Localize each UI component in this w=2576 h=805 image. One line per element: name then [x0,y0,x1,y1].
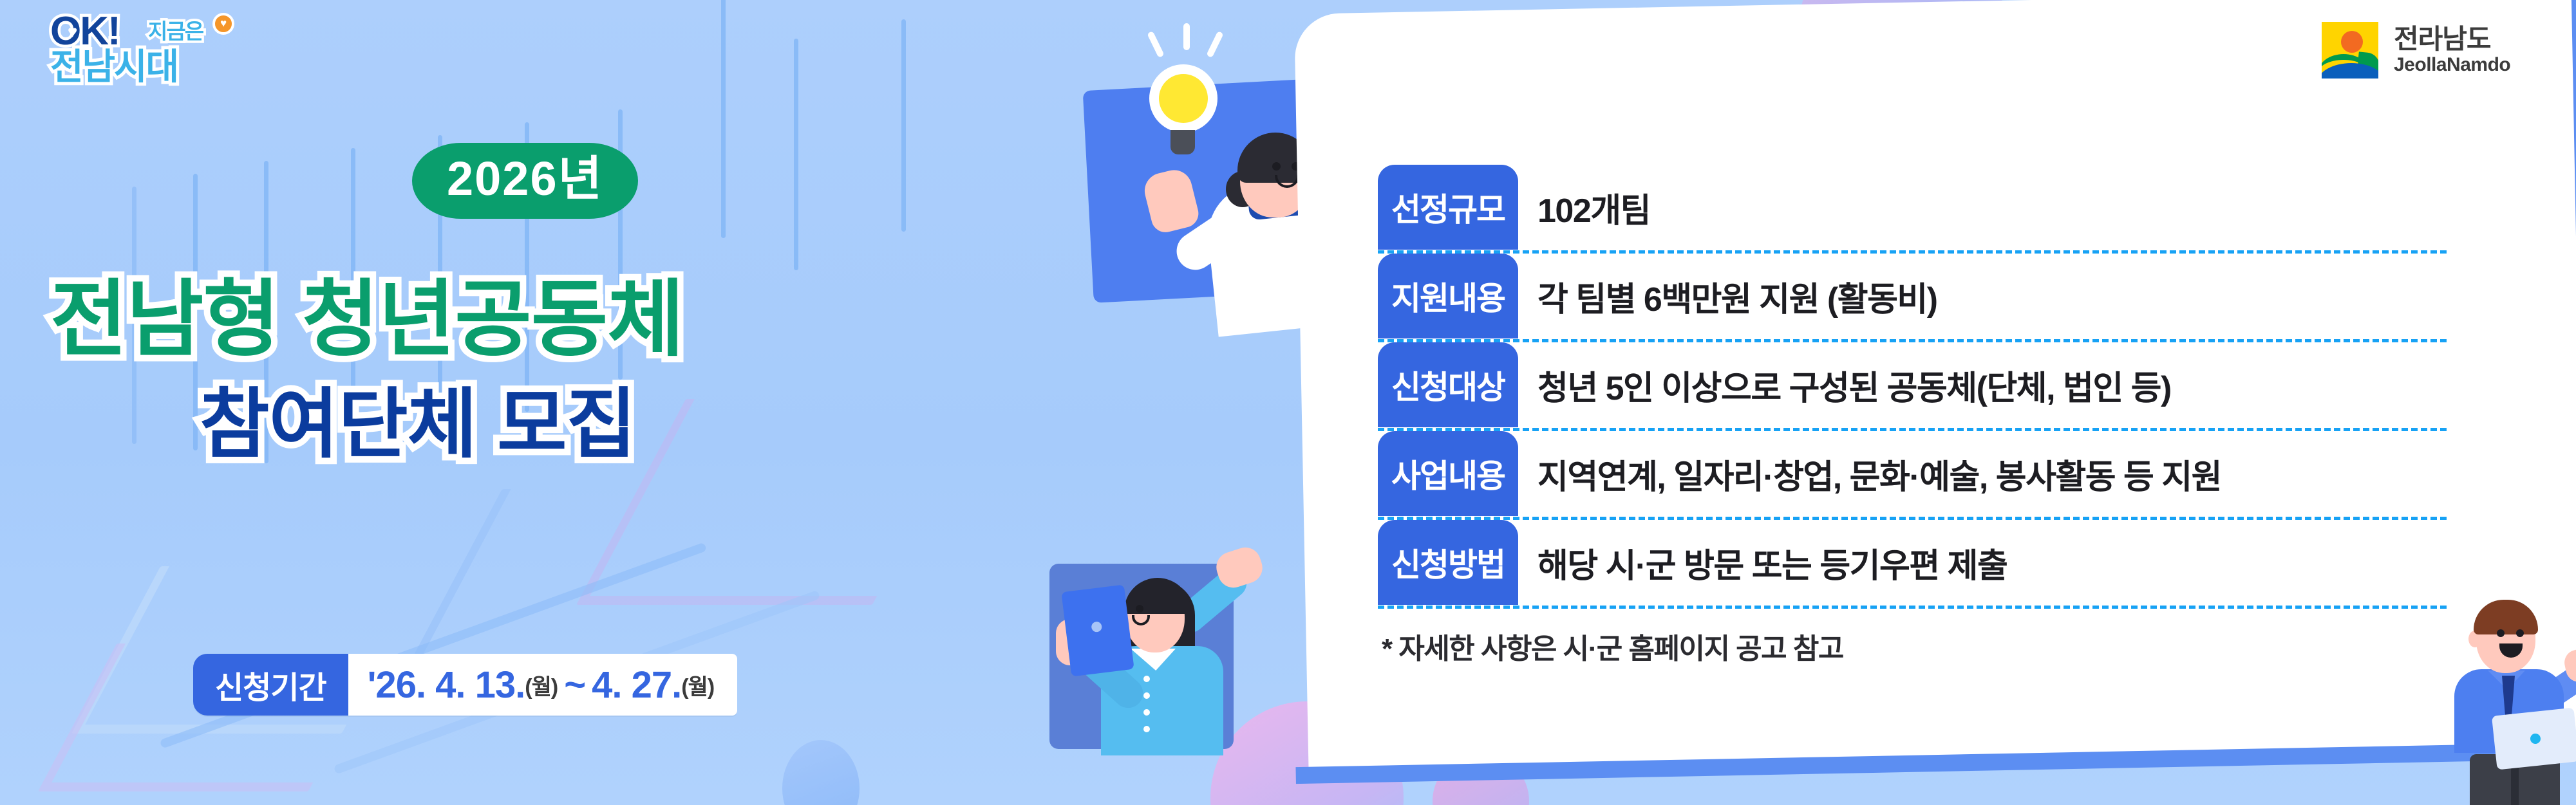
info-row: 신청방법 해당 시·군 방문 또는 등기우편 제출 [1378,520,2447,609]
info-row-value: 해당 시·군 방문 또는 등기우편 제출 [1537,520,2447,605]
info-row-label: 선정규모 [1378,165,1518,250]
info-row-label: 신청대상 [1378,342,1518,427]
period-end-dow: (월) [681,669,714,701]
light-ray-icon [1206,31,1223,58]
logo-row-top: OK! ♥ 지금은 [50,12,295,51]
light-ray-icon [1147,31,1164,58]
application-period-badge: 신청기간 '26. 4. 13. (월) ~ 4. 27. (월) [193,654,737,716]
info-row: 선정규모 102개팀 [1378,165,2447,254]
info-row: 지원내용 각 팀별 6백만원 지원 (활동비) [1378,254,2447,342]
jeollanamdo-logo: 전라남도 JeollaNamdo [2318,18,2510,82]
year-badge-text: 2026년 [447,152,603,205]
period-start-date: '26. 4. 13. [368,663,525,707]
jeollanamdo-emblem-icon [2318,18,2382,82]
sun-icon [2341,31,2363,53]
info-row-label: 지원내용 [1378,254,1518,338]
decor-blob [782,740,860,805]
eye [1136,605,1143,613]
info-row-value: 청년 5인 이상으로 구성된 공동체(단체, 법인 등) [1537,342,2447,427]
promo-banner: OK! ♥ 지금은 전남시대 2026년 전남형 청년공동체 참여단체 모집 신… [0,0,2576,805]
illustration-man-laptop [2440,579,2576,805]
footnote: * 자세한 사항은 시·군 홈페이지 공고 참고 [1378,625,2447,667]
light-ray-icon [1183,23,1190,50]
heart-dot-icon [212,13,234,35]
info-row-value: 각 팀별 6백만원 지원 (활동비) [1537,254,2447,338]
info-row-label: 사업내용 [1378,431,1518,516]
decor-vline [721,0,726,238]
logo-sub-text: 지금은 [148,21,203,42]
period-tilde: ~ [558,663,592,707]
info-row: 신청대상 청년 5인 이상으로 구성된 공동체(단체, 법인 등) [1378,342,2447,431]
ok-jeonnam-era-logo: OK! ♥ 지금은 전남시대 [50,12,295,95]
lightbulb-icon [1149,64,1217,133]
info-row-value: 지역연계, 일자리·창업, 문화·예술, 봉사활동 등 지원 [1537,431,2447,516]
org-name-en: JeollaNamdo [2394,55,2510,75]
lightbulb-base [1170,130,1195,154]
application-period-value: '26. 4. 13. (월) ~ 4. 27. (월) [348,654,738,716]
hair [2474,600,2538,634]
laptop-icon [2492,708,2576,770]
info-rows: 선정규모 102개팀 지원내용 각 팀별 6백만원 지원 (활동비) 신청대상 … [1378,165,2447,667]
heart-icon: ♥ [68,22,77,42]
year-badge: 2026년 [412,143,638,219]
logo-ok-mark: OK! [50,12,120,51]
info-row-label: 신청방법 [1378,520,1518,605]
decor-vline [901,19,906,232]
period-end-date: 4. 27. [592,663,681,707]
illustration-woman-tablet [1004,541,1275,805]
application-period-label: 신청기간 [193,654,348,716]
info-row-value: 102개팀 [1537,165,2447,250]
org-name-ko: 전라남도 [2394,26,2510,53]
eye [2497,629,2505,637]
period-start-dow: (월) [525,669,558,701]
logo-line2: 전남시대 [50,49,178,85]
page-title-line2: 참여단체 모집 [200,386,635,463]
eye [1272,162,1281,171]
jeollanamdo-wordmark: 전라남도 JeollaNamdo [2394,26,2510,75]
page-title-line1: 전남형 청년공동체 [50,277,684,362]
eye [2516,629,2524,637]
tablet-icon [1061,585,1134,677]
decor-vline [794,39,798,270]
info-row: 사업내용 지역연계, 일자리·창업, 문화·예술, 봉사활동 등 지원 [1378,431,2447,520]
